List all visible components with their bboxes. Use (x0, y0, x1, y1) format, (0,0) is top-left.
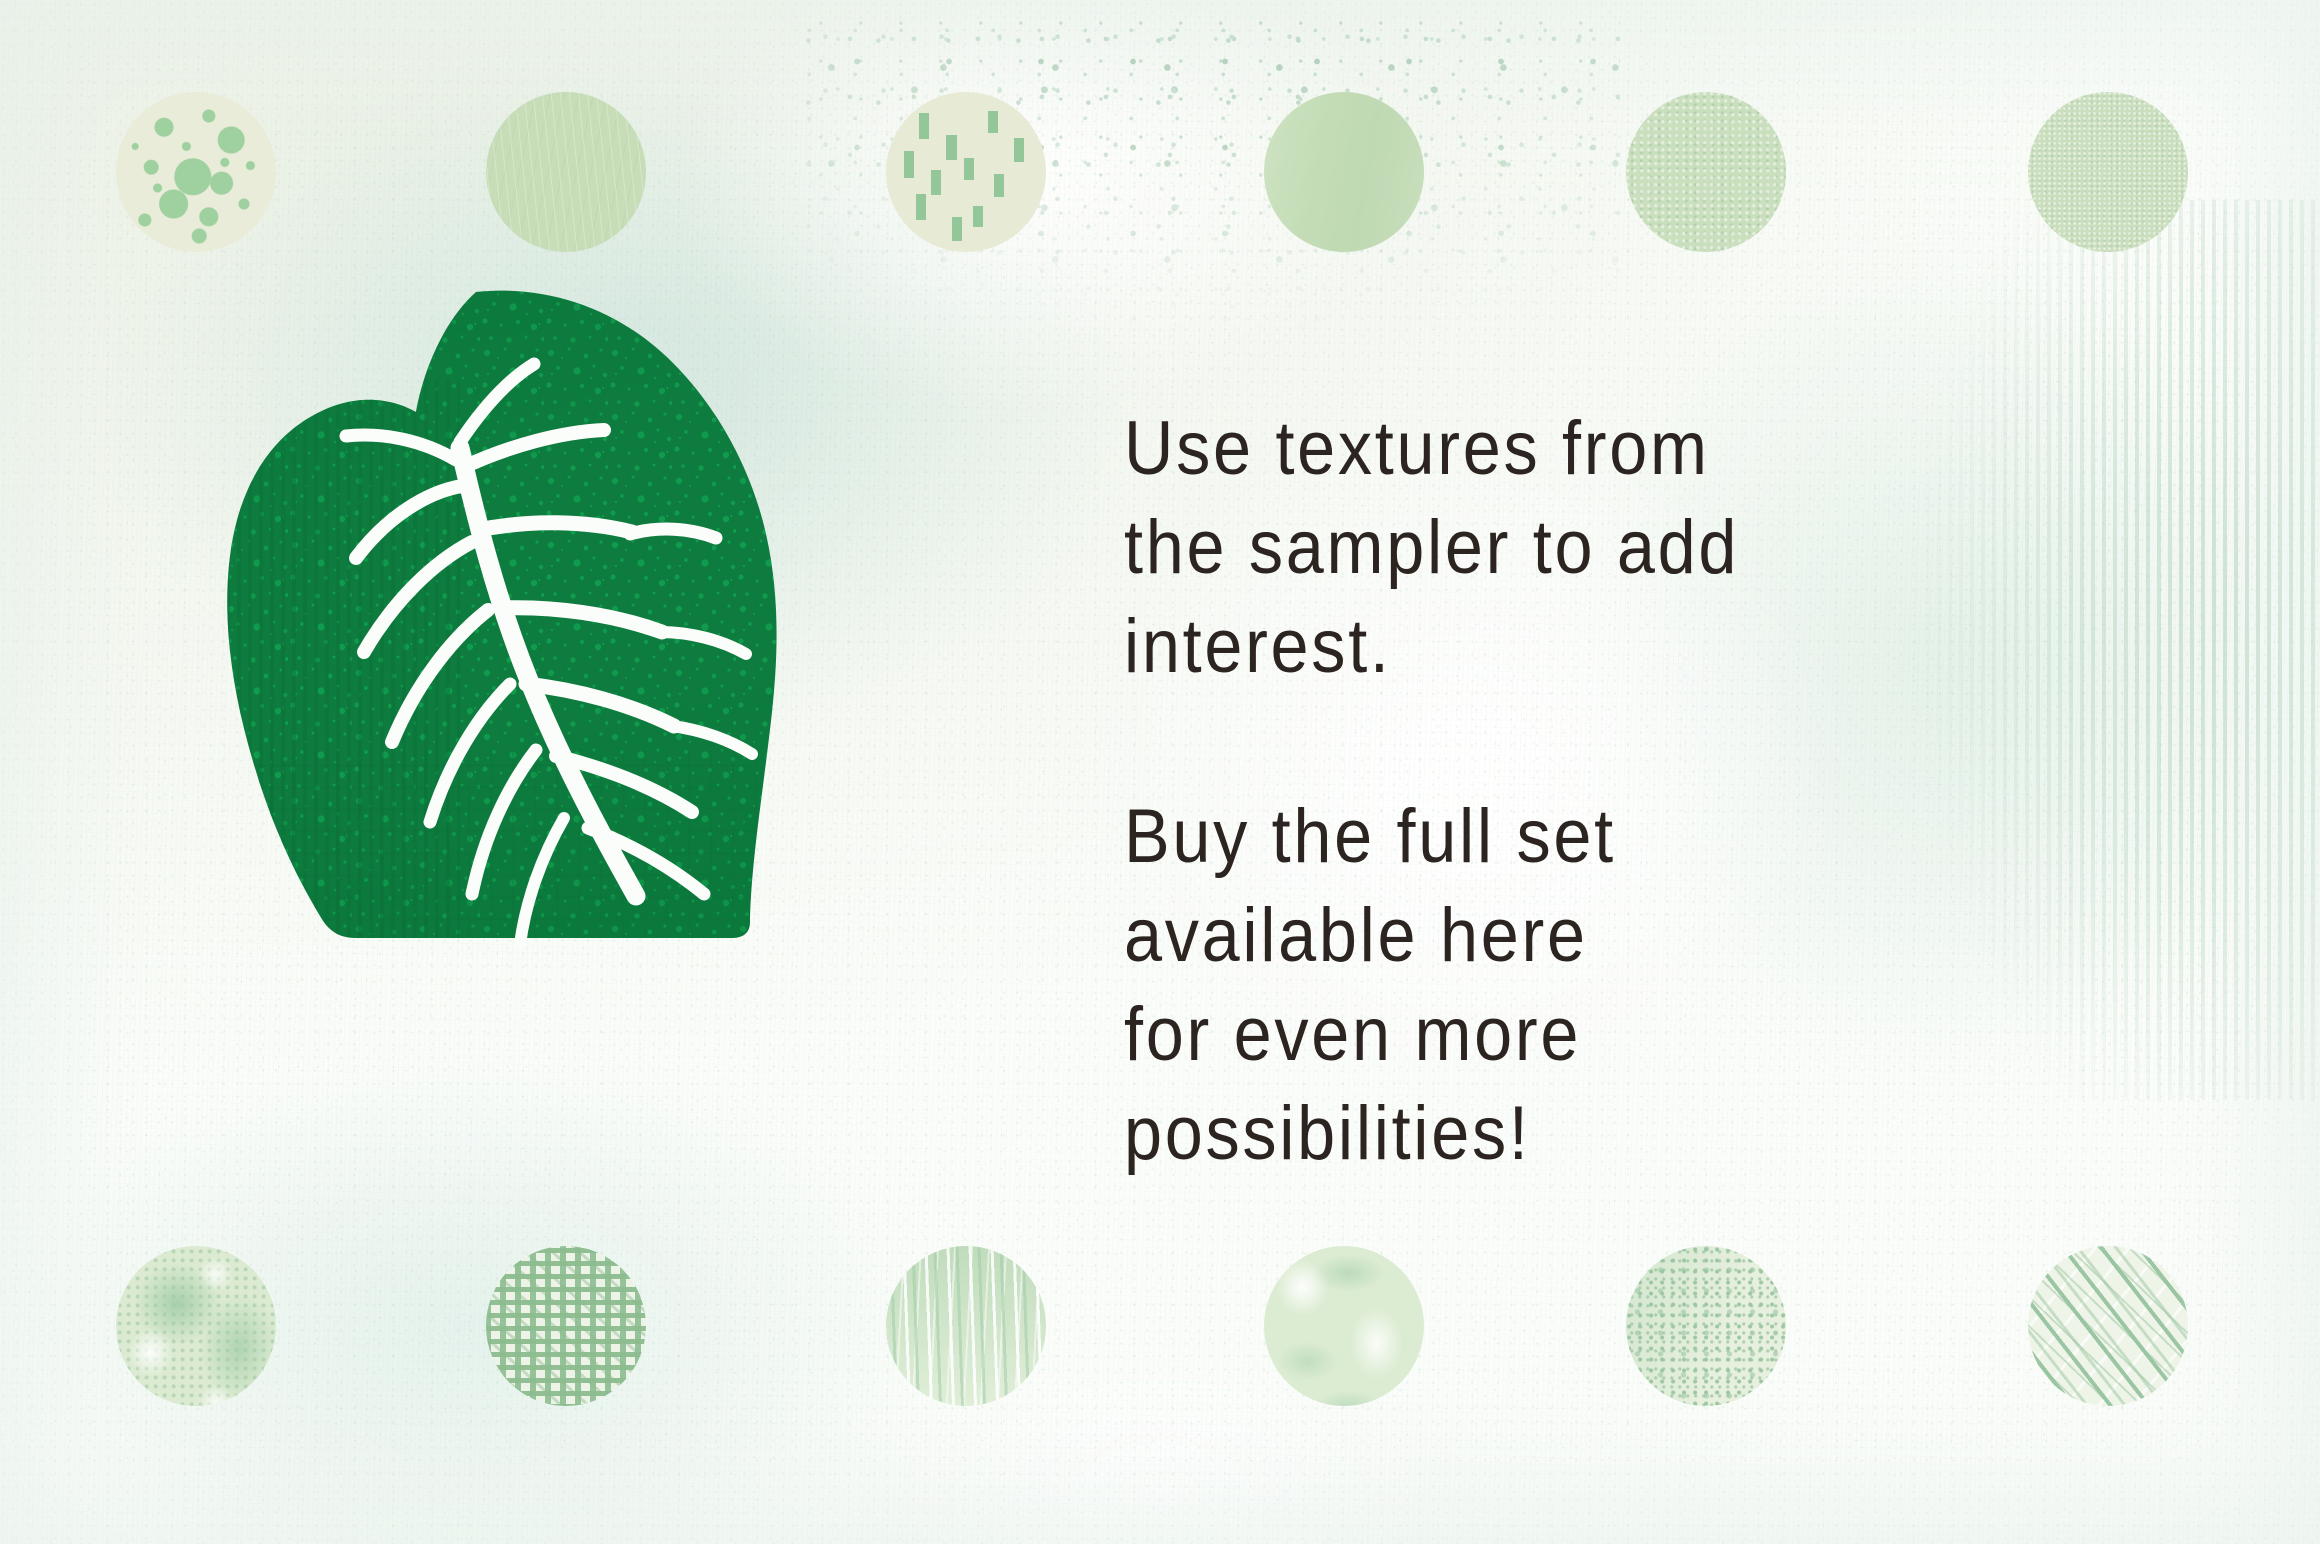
mottled-wash-pattern (116, 1246, 276, 1406)
crackle-maze-pattern (486, 1246, 646, 1406)
monstera-leaf-illustration (160, 280, 880, 980)
diagonal-brush-pattern (2028, 1246, 2188, 1406)
swatch-stipple (1626, 1246, 1786, 1406)
swatch-dashes (886, 92, 1046, 252)
paragraph-one: Use textures from the sampler to add int… (1124, 400, 1988, 696)
swatch-grain-tight (2028, 92, 2188, 252)
promo-text-block: Use textures from the sampler to add int… (1124, 400, 2084, 1184)
paragraph-two: Buy the full set available here for even… (1124, 788, 1988, 1183)
poster-canvas: Use textures from the sampler to add int… (0, 0, 2320, 1544)
grain-pattern (1626, 92, 1786, 252)
swatch-marble (1264, 1246, 1424, 1406)
marble-wash-pattern (1264, 1246, 1424, 1406)
swatch-speckle-blotch (116, 92, 276, 252)
swatch-mottle (116, 1246, 276, 1406)
vertical-streaks-pattern (886, 1246, 1046, 1406)
fine-stipple-pattern (1626, 1246, 1786, 1406)
swatch-smooth (1264, 92, 1424, 252)
swatch-crackle (486, 1246, 646, 1406)
smooth-wash-pattern (1264, 92, 1424, 252)
speckle-blotch-pattern (116, 92, 276, 252)
swatch-bark (886, 1246, 1046, 1406)
fibre-solid-pattern (486, 92, 646, 252)
swatch-fibre-solid (486, 92, 646, 252)
swatch-scratch (2028, 1246, 2188, 1406)
swatch-grain (1626, 92, 1786, 252)
grain-tight-pattern (2028, 92, 2188, 252)
dash-ticks-pattern (886, 92, 1046, 252)
